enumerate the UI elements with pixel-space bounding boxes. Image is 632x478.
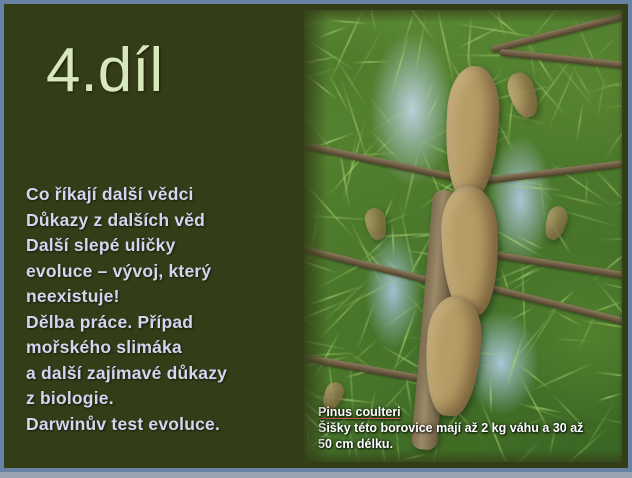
body-line: Důkazy z dalších věd [26, 208, 294, 234]
slide-canvas: 4.díl Co říkají další vědci Důkazy z dal… [4, 4, 628, 468]
photo-frame: Pinus coulteri Šišky této borovice mají … [298, 4, 628, 468]
pine-tree-photo: Pinus coulteri Šišky této borovice mají … [304, 10, 622, 462]
body-line: Dělba práce. Případ [26, 310, 294, 336]
body-text-block: Co říkají další vědci Důkazy z dalších v… [26, 182, 294, 437]
caption-line: Šišky této borovice mají až 2 kg váhu a … [318, 421, 612, 437]
caption-line: 50 cm délku. [318, 437, 612, 453]
photo-caption: Pinus coulteri Šišky této borovice mají … [318, 405, 612, 453]
body-line: mořského slimáka [26, 335, 294, 361]
body-line: Co říkají další vědci [26, 182, 294, 208]
body-line: Darwinův test evoluce. [26, 412, 294, 438]
body-line: neexistuje! [26, 284, 294, 310]
page-title: 4.díl [46, 40, 163, 102]
body-line: evoluce – vývoj, který [26, 259, 294, 285]
body-line: a další zajímavé důkazy [26, 361, 294, 387]
body-line: z biologie. [26, 386, 294, 412]
slide-window: 4.díl Co říkají další vědci Důkazy z dal… [0, 0, 632, 478]
caption-species-name: Pinus coulteri [318, 405, 401, 421]
body-line: Další slepé uličky [26, 233, 294, 259]
